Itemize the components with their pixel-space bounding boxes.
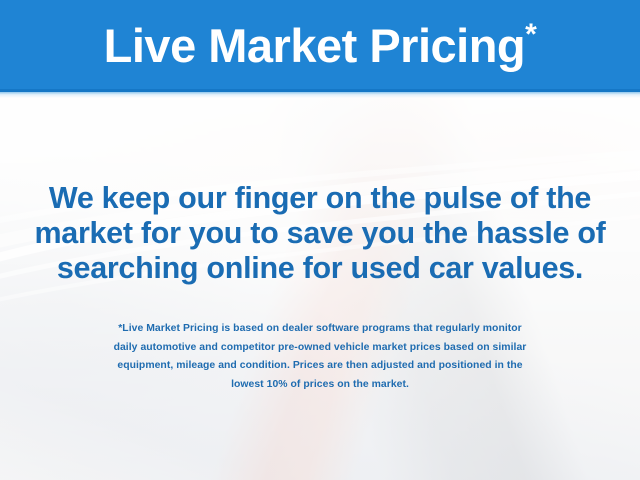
disclaimer-line-4: lowest 10% of prices on the market. xyxy=(20,376,620,395)
page-title-text: Live Market Pricing xyxy=(104,19,526,72)
headline-line-3: searching online for used car values. xyxy=(0,251,640,286)
disclaimer-line-3: equipment, mileage and condition. Prices… xyxy=(20,357,620,376)
page-title-asterisk: * xyxy=(525,18,536,51)
headline-block: We keep our finger on the pulse of the m… xyxy=(0,181,640,286)
disclaimer-line-1: *Live Market Pricing is based on dealer … xyxy=(20,320,620,339)
page-title: Live Market Pricing* xyxy=(104,20,537,69)
live-market-pricing-graphic: Live Market Pricing* We keep our finger … xyxy=(0,0,640,480)
headline-line-2: market for you to save you the hassle of xyxy=(0,216,640,251)
disclaimer-line-2: daily automotive and competitor pre-owne… xyxy=(20,339,620,358)
headline-line-1: We keep our finger on the pulse of the xyxy=(0,181,640,216)
header-banner: Live Market Pricing* xyxy=(0,0,640,92)
disclaimer-block: *Live Market Pricing is based on dealer … xyxy=(20,320,620,394)
